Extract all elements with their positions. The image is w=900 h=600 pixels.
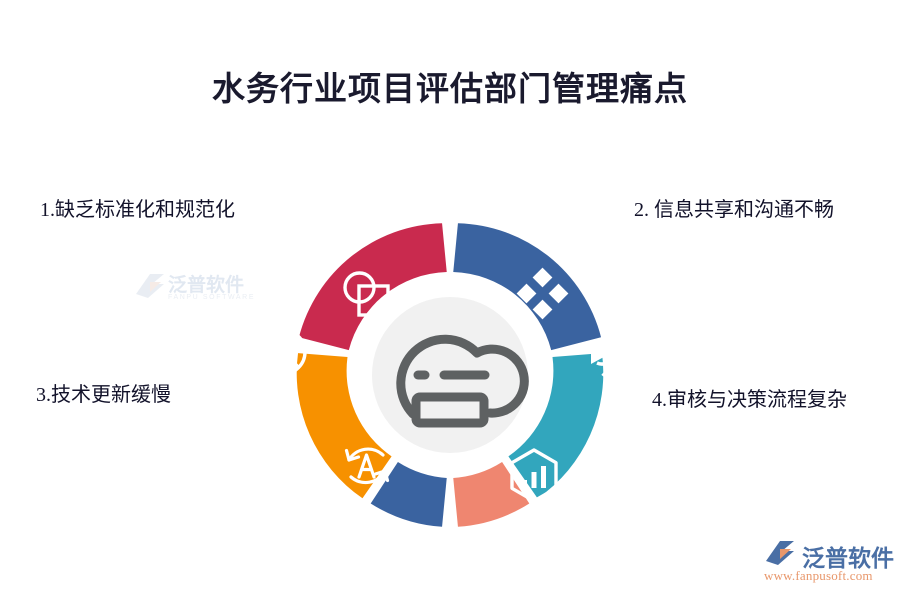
pain-point-label-3: 3.技术更新缓慢 <box>36 378 171 407</box>
hub-circle <box>372 297 528 453</box>
donut-wheel <box>225 150 675 600</box>
page-title: 水务行业项目评估部门管理痛点 <box>0 62 900 110</box>
segment-coral-group <box>453 462 529 527</box>
watermark-logo-icon <box>134 272 166 302</box>
user-avatar-icon <box>261 330 305 374</box>
brand-url: www.fanpusoft.com <box>764 568 873 584</box>
pain-point-label-1: 1.缺乏标准化和规范化 <box>40 193 235 222</box>
infographic-canvas: 水务行业项目评估部门管理痛点 <box>0 0 900 600</box>
pain-point-label-2: 2. 信息共享和沟通不畅 <box>634 193 834 222</box>
segment-coral[interactable] <box>453 462 529 527</box>
pain-point-label-4: 4.审核与决策流程复杂 <box>652 383 847 412</box>
brand-logo: 泛普软件 www.fanpusoft.com <box>758 537 898 593</box>
brand-logo-icon <box>760 539 800 569</box>
